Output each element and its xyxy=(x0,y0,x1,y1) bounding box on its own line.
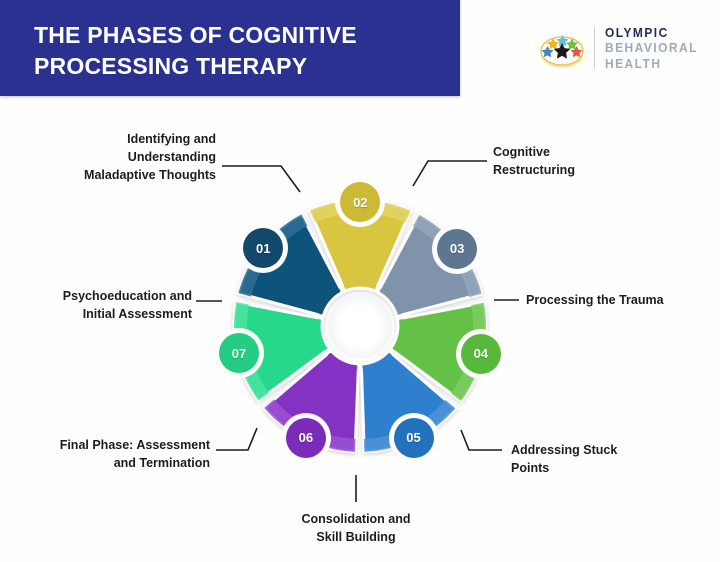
phase-label-02: Identifying and Understanding Maladaptiv… xyxy=(48,131,216,184)
logo: OLYMPIC BEHAVIORAL HEALTH xyxy=(536,17,708,79)
phase-badge-number-02: 02 xyxy=(353,195,367,210)
logo-wordmark: OLYMPIC BEHAVIORAL HEALTH xyxy=(605,25,706,71)
phase-label-05: Addressing Stuck Points xyxy=(511,442,687,478)
olympic-behavioral-health-logo-mark xyxy=(536,22,588,74)
phase-label-06: Consolidation and Skill Building xyxy=(256,511,456,547)
phase-badge-04[interactable]: 04 xyxy=(461,334,501,374)
phase-badge-06[interactable]: 06 xyxy=(286,418,326,458)
page-title: THE PHASES OF COGNITIVE PROCESSING THERA… xyxy=(34,20,434,81)
phase-label-07: Final Phase: Assessment and Termination xyxy=(22,437,210,473)
phase-badge-number-06: 06 xyxy=(299,430,313,445)
phase-badge-number-05: 05 xyxy=(406,430,420,445)
phase-badge-03[interactable]: 03 xyxy=(437,229,477,269)
logo-divider xyxy=(594,27,595,69)
logo-line-behavioral: BEHAVIORAL xyxy=(605,40,698,55)
phase-badge-number-07: 07 xyxy=(232,346,246,361)
wheel-hub xyxy=(328,294,392,358)
phase-label-04: Processing the Trauma xyxy=(526,292,712,310)
logo-line-olympic: OLYMPIC xyxy=(605,25,698,40)
phase-label-01: Psychoeducation and Initial Assessment xyxy=(20,288,192,324)
phase-label-03: Cognitive Restructuring xyxy=(493,144,673,180)
phase-badge-number-01: 01 xyxy=(256,241,270,256)
phase-badge-number-04: 04 xyxy=(474,346,488,361)
logo-line-health: HEALTH xyxy=(605,56,698,71)
connector-02 xyxy=(222,166,300,192)
phase-badge-05[interactable]: 05 xyxy=(394,418,434,458)
connector-03 xyxy=(413,161,487,186)
phase-badge-number-03: 03 xyxy=(450,241,464,256)
